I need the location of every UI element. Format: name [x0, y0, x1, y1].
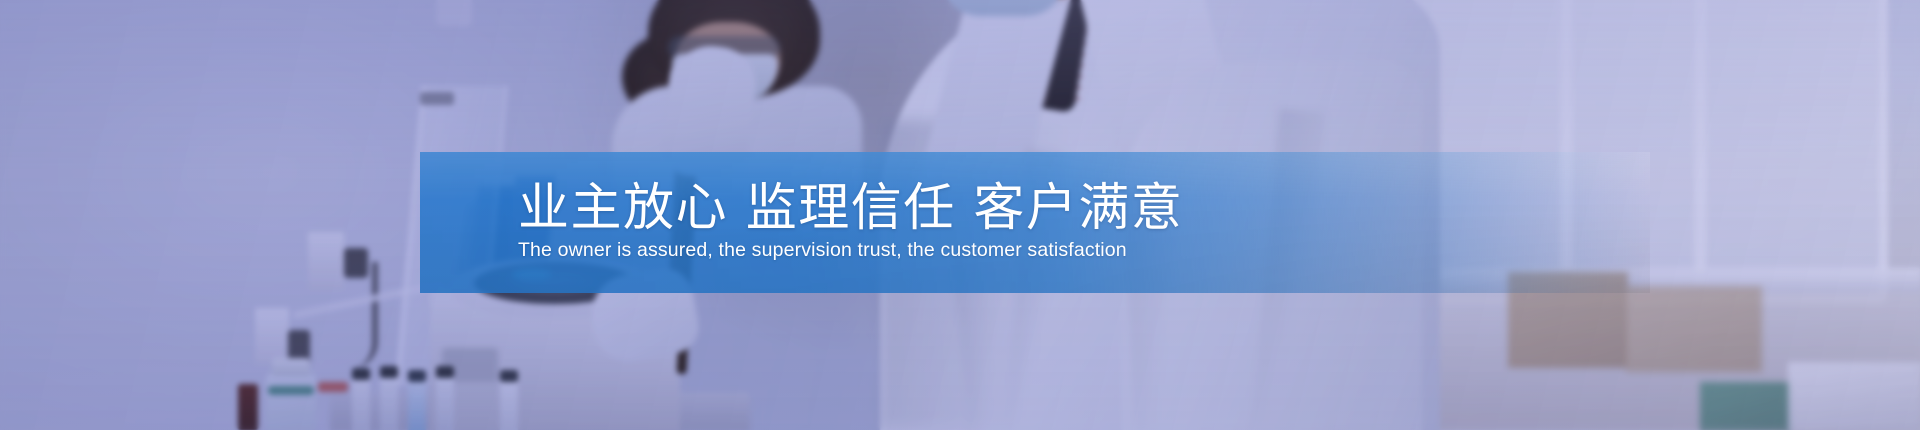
- banner-headline: 业主放心 监理信任 客户满意: [518, 182, 1183, 235]
- hero-banner: 业主放心 监理信任 客户满意 The owner is assured, the…: [0, 0, 1920, 430]
- headline-text-block: 业主放心 监理信任 客户满意 The owner is assured, the…: [420, 152, 1650, 293]
- banner-subtitle: The owner is assured, the supervision tr…: [518, 238, 1127, 262]
